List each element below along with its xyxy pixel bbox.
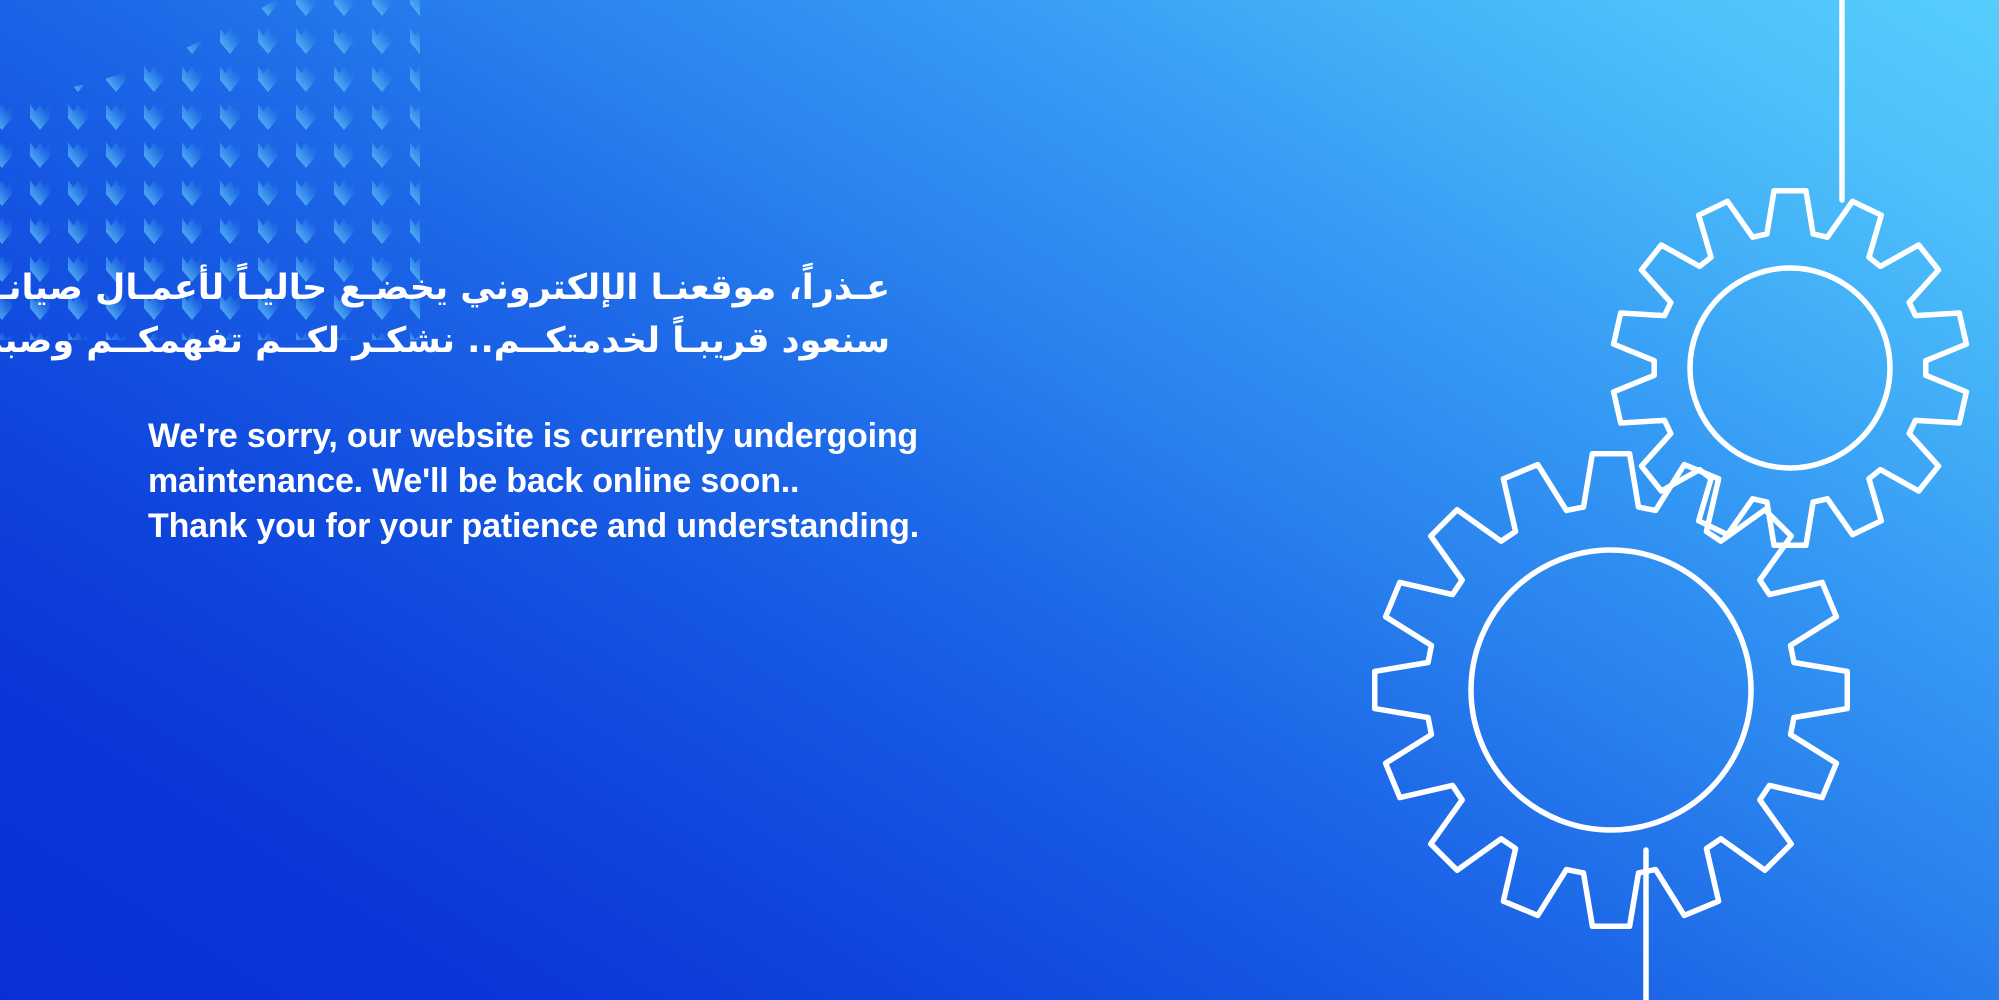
arabic-message: عـذراً، موقعنـا الإلكتروني يخضـع حاليـاً…: [148, 262, 890, 368]
gear-large-inner-circle: [1471, 550, 1751, 830]
gear-illustration: [1099, 0, 1999, 1000]
english-line-1: We're sorry, our website is currently un…: [148, 414, 1148, 459]
gear-large-lower-outline: [1375, 454, 1848, 927]
arabic-line-2: سنعود قريبـاً لخدمتكــم.. نشكـر لكــم تف…: [148, 315, 890, 368]
gear-small-inner-circle: [1690, 268, 1890, 468]
maintenance-page: عـذراً، موقعنـا الإلكتروني يخضـع حاليـاً…: [0, 0, 1999, 1000]
english-message: We're sorry, our website is currently un…: [148, 414, 1148, 549]
arabic-line-1: عـذراً، موقعنـا الإلكتروني يخضـع حاليـاً…: [148, 262, 890, 315]
message-content: عـذراً، موقعنـا الإلكتروني يخضـع حاليـاً…: [148, 262, 1148, 549]
english-line-2: maintenance. We'll be back online soon..: [148, 459, 1148, 504]
english-line-3: Thank you for your patience and understa…: [148, 504, 1148, 549]
gear-small-upper-outline: [1614, 191, 1967, 546]
